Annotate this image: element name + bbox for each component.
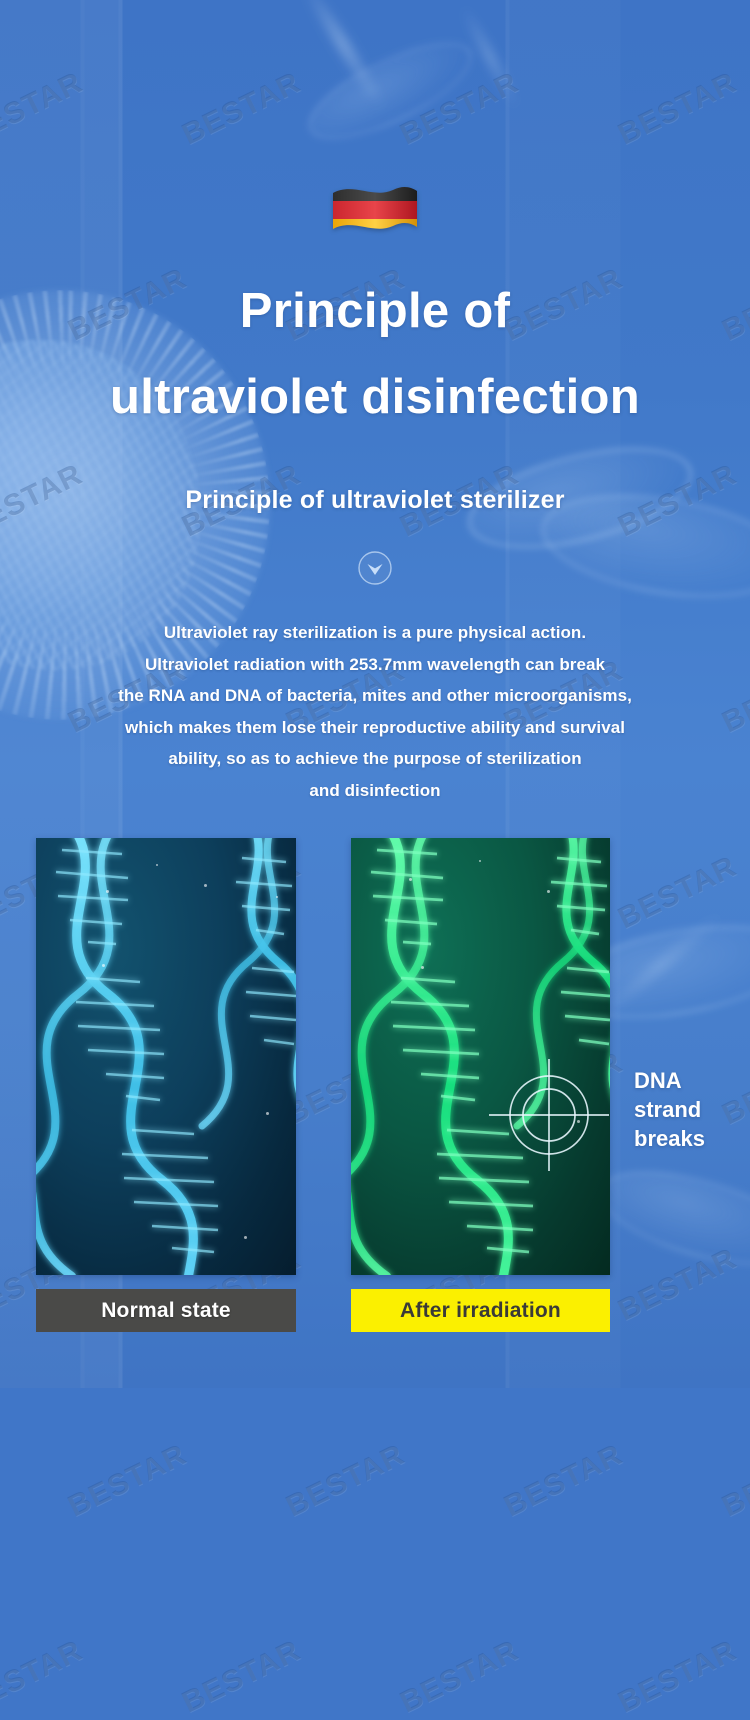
caption-after-irradiation: After irradiation: [351, 1289, 610, 1332]
speck: [421, 966, 424, 969]
speck: [244, 1236, 247, 1239]
caption-normal-state: Normal state: [36, 1289, 296, 1332]
chevron-down-circle-icon[interactable]: [357, 550, 393, 586]
speck: [266, 1112, 269, 1115]
watermark-text: BESTAR: [0, 1634, 88, 1720]
page-title: Principle of ultraviolet disinfection: [0, 268, 750, 440]
paragraph-line: the RNA and DNA of bacteria, mites and o…: [65, 680, 685, 712]
watermark-text: BESTAR: [281, 1438, 410, 1524]
german-flag-icon: [0, 183, 750, 252]
dna-label-line: breaks: [634, 1124, 746, 1153]
paragraph-line: which makes them lose their reproductive…: [65, 712, 685, 744]
watermark-text: BESTAR: [499, 1438, 628, 1524]
speck: [106, 890, 109, 893]
dna-helix-illustration: [36, 838, 296, 1275]
dna-label-line: DNA: [634, 1066, 746, 1095]
speck: [204, 884, 207, 887]
speck: [276, 896, 278, 898]
speck: [577, 1120, 580, 1123]
speck: [102, 964, 105, 967]
watermark-text: BESTAR: [177, 1634, 306, 1720]
paragraph-line: and disinfection: [65, 775, 685, 807]
paragraph-line: Ultraviolet radiation with 253.7mm wavel…: [65, 649, 685, 681]
speck: [156, 864, 158, 866]
dna-image-irradiated: [351, 838, 610, 1275]
page-title-line-2: ultraviolet disinfection: [0, 354, 750, 440]
watermark-text: BESTAR: [395, 1634, 524, 1720]
paragraph-line: Ultraviolet ray sterilization is a pure …: [65, 617, 685, 649]
speck: [547, 890, 550, 893]
watermark-text: BESTAR: [63, 1438, 192, 1524]
watermark-text: BESTAR: [613, 1634, 742, 1720]
dna-label-line: strand: [634, 1095, 746, 1124]
watermark-text: BESTAR: [717, 1438, 750, 1524]
body-paragraph: Ultraviolet ray sterilization is a pure …: [65, 617, 685, 806]
page-subtitle: Principle of ultraviolet sterilizer: [0, 486, 750, 515]
page-title-line-1: Principle of: [0, 268, 750, 354]
dna-image-normal: [36, 838, 296, 1275]
speck: [409, 878, 412, 881]
dna-strand-breaks-label: DNA strand breaks: [634, 1066, 746, 1153]
paragraph-line: ability, so as to achieve the purpose of…: [65, 743, 685, 775]
dna-helix-illustration: [351, 838, 610, 1275]
speck: [479, 860, 481, 862]
